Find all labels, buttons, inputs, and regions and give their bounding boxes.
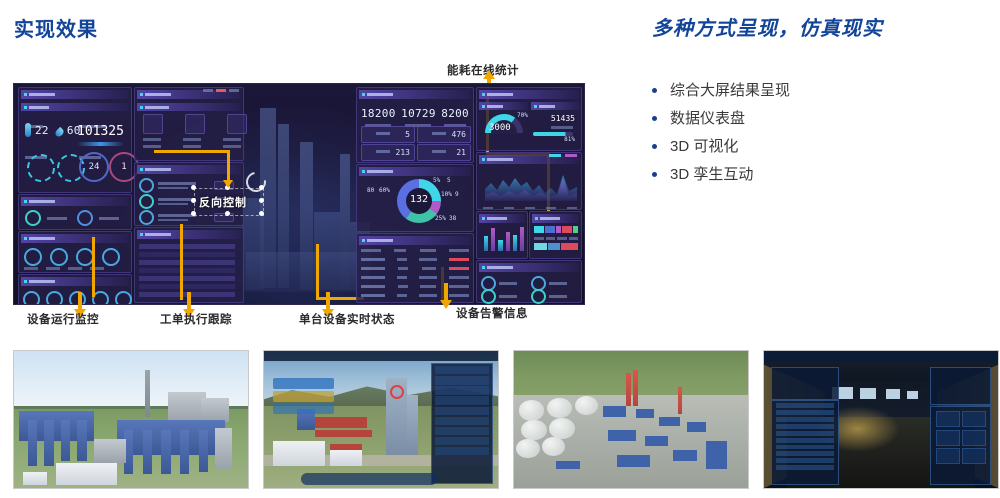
panel-kpi-summary: 18200 10729 8200 5 476 bbox=[356, 87, 474, 163]
metric-count-a: 24 bbox=[89, 162, 100, 172]
table-row[interactable] bbox=[361, 276, 469, 279]
selection-handle bbox=[259, 211, 264, 216]
twin-menu-item[interactable] bbox=[273, 403, 334, 414]
panel-system-status bbox=[18, 194, 132, 230]
callout-label-device-alarm-info: 设备告警信息 bbox=[456, 305, 528, 321]
page-title-right: 多种方式呈现，仿真现实 bbox=[652, 12, 883, 41]
connector-line bbox=[92, 237, 95, 297]
kpi-stat-value: 5 bbox=[405, 130, 410, 139]
thumbnail-plant-exterior-render[interactable] bbox=[13, 350, 249, 489]
donut-segment-value: 5 bbox=[447, 177, 451, 184]
connector-line bbox=[154, 150, 230, 153]
panel-subheader-left bbox=[479, 102, 528, 110]
list-item-label: 3D 孪生互动 bbox=[670, 167, 753, 182]
donut-segment-percent: 60% bbox=[379, 187, 390, 194]
twin-menu-item[interactable] bbox=[273, 378, 334, 389]
gauge-ring-a bbox=[27, 154, 55, 182]
area-chart bbox=[485, 169, 577, 201]
callout-label-reverse-control: 反向控制 bbox=[199, 194, 247, 210]
twin-top-bar[interactable] bbox=[264, 351, 498, 361]
panel-energy-gauge: 3000 70% 51435 81% bbox=[476, 87, 582, 151]
panel-alarm-table bbox=[356, 233, 474, 303]
panel-header bbox=[479, 90, 579, 99]
selection-handle bbox=[259, 185, 264, 190]
list-item: 综合大屏结果呈现 bbox=[652, 76, 982, 104]
kpi-stat-tile: 5 bbox=[361, 126, 415, 143]
bullet-dot-icon bbox=[652, 116, 657, 121]
metric-temperature: 22 bbox=[35, 124, 49, 137]
chimney-stack bbox=[145, 370, 150, 417]
panel-header bbox=[479, 214, 525, 223]
bullet-dot-icon bbox=[652, 88, 657, 93]
panel-device-types bbox=[18, 231, 132, 273]
panel-energy-trend bbox=[476, 152, 582, 210]
list-item-label: 综合大屏结果呈现 bbox=[670, 83, 790, 98]
kpi-stat-tile: 476 bbox=[417, 126, 471, 143]
callout-label-work-order-tracking: 工单执行跟踪 bbox=[160, 311, 232, 327]
panel-header bbox=[479, 263, 579, 272]
energy-percent: 81% bbox=[564, 136, 575, 143]
panel-header bbox=[137, 230, 241, 239]
panel-device-summary bbox=[476, 260, 582, 303]
legend-block-row bbox=[534, 243, 578, 250]
list-item: 3D 可视化 bbox=[652, 132, 982, 160]
kpi-stat-tile: 213 bbox=[361, 144, 415, 161]
panel-header bbox=[21, 197, 129, 206]
donut-segment-percent: 5% bbox=[433, 177, 440, 184]
callout-label-single-device-status: 单台设备实时状态 bbox=[299, 311, 395, 327]
twin-menu-item[interactable] bbox=[273, 391, 334, 402]
page-title-left: 实现效果 bbox=[14, 13, 98, 42]
panel-energy-legend bbox=[529, 211, 582, 259]
interior-panel-right-top bbox=[930, 367, 991, 405]
interior-panel-right-grid bbox=[930, 406, 991, 485]
donut-segment-value: 38 bbox=[449, 215, 456, 222]
connector-line bbox=[227, 150, 230, 182]
kpi-stat-value: 21 bbox=[456, 148, 466, 157]
callout-arrow-down-icon bbox=[187, 292, 191, 310]
panel-header bbox=[137, 165, 241, 174]
panel-energy-bar-chart bbox=[476, 211, 528, 259]
energy-value: 51435 bbox=[551, 114, 575, 123]
table-row[interactable] bbox=[361, 258, 469, 261]
selection-handle bbox=[191, 211, 196, 216]
panel-header bbox=[21, 277, 129, 286]
selection-handle bbox=[225, 211, 230, 216]
bar-chart bbox=[484, 225, 524, 251]
selection-handle bbox=[191, 185, 196, 190]
donut-segment-percent: 10% bbox=[441, 191, 452, 198]
table-row[interactable] bbox=[361, 285, 469, 288]
panel-header bbox=[359, 236, 471, 245]
panel-header bbox=[21, 234, 129, 243]
thumbnail-gallery bbox=[13, 350, 987, 490]
twin-side-panel[interactable] bbox=[431, 363, 494, 484]
panel-header bbox=[532, 214, 579, 223]
metric-count-b: 1 bbox=[121, 162, 126, 172]
connector-arrow-icon bbox=[223, 180, 233, 188]
gauge-value: 3000 bbox=[489, 123, 511, 133]
panel-device-distribution: 132 60% 80 5% 5 10% 9 25% 38 bbox=[356, 164, 474, 232]
list-item: 数据仪表盘 bbox=[652, 104, 982, 132]
panel-subheader-right bbox=[531, 102, 580, 110]
interior-panel-top-left bbox=[771, 367, 839, 399]
twin-bottom-nav[interactable] bbox=[301, 473, 437, 485]
thumbnail-factory-interior-3d[interactable] bbox=[763, 350, 999, 489]
counter-circle-a: 24 bbox=[79, 152, 109, 182]
list-item-label: 3D 可视化 bbox=[670, 139, 738, 154]
interior-panel-left bbox=[771, 400, 839, 484]
selection-handle bbox=[191, 198, 196, 203]
panel-subheader bbox=[137, 103, 241, 111]
thumbnail-cement-plant-digital-twin[interactable] bbox=[263, 350, 499, 489]
panel-device-categories bbox=[18, 274, 132, 305]
connector-line bbox=[180, 224, 183, 300]
kpi-stat-value: 476 bbox=[452, 130, 466, 139]
panel-header bbox=[359, 167, 471, 176]
bullet-dot-icon bbox=[652, 144, 657, 149]
thumbnail-refinery-aerial-view[interactable] bbox=[513, 350, 749, 489]
kpi-value: 8200 bbox=[441, 107, 469, 120]
legend-block-row bbox=[534, 226, 578, 233]
table-row[interactable] bbox=[361, 294, 469, 297]
donut-segment-percent: 25% bbox=[435, 215, 446, 222]
gauge-percent: 70% bbox=[517, 112, 528, 119]
list-item-label: 数据仪表盘 bbox=[670, 111, 745, 126]
table-row[interactable] bbox=[361, 267, 469, 270]
kpi-stat-tile: 21 bbox=[417, 144, 471, 161]
selection-handle bbox=[259, 198, 264, 203]
kpi-stat-value: 213 bbox=[396, 148, 410, 157]
panel-device-monitor: 22 60 101325 24 1 bbox=[18, 87, 132, 193]
bullet-dot-icon bbox=[652, 172, 657, 177]
donut-center-value: 132 bbox=[397, 194, 441, 205]
panel-header bbox=[359, 90, 471, 99]
list-item: 3D 孪生互动 bbox=[652, 160, 982, 188]
panel-header bbox=[21, 90, 129, 99]
dashboard-screenshot: 22 60 101325 24 1 bbox=[13, 83, 585, 305]
callout-arrow-down-icon bbox=[326, 292, 330, 310]
feature-list: 综合大屏结果呈现 数据仪表盘 3D 可视化 3D 孪生互动 bbox=[652, 76, 982, 188]
kpi-value: 18200 bbox=[361, 107, 396, 120]
callout-arrow-down-icon bbox=[444, 283, 448, 301]
callout-arrow-down-icon bbox=[78, 292, 82, 310]
kpi-value: 10729 bbox=[401, 107, 436, 120]
interior-top-bar[interactable] bbox=[764, 351, 998, 362]
connector-line bbox=[316, 244, 319, 300]
donut-segment-value: 9 bbox=[455, 191, 459, 198]
callout-label-device-monitoring: 设备运行监控 bbox=[27, 311, 99, 327]
metric-pressure: 101325 bbox=[77, 124, 124, 139]
table-header bbox=[361, 249, 469, 252]
donut-segment-value: 80 bbox=[367, 187, 374, 194]
panel-subheader bbox=[21, 103, 129, 111]
slide-root: 实现效果 多种方式呈现，仿真现实 综合大屏结果呈现 数据仪表盘 3D 可视化 3… bbox=[0, 0, 1000, 498]
